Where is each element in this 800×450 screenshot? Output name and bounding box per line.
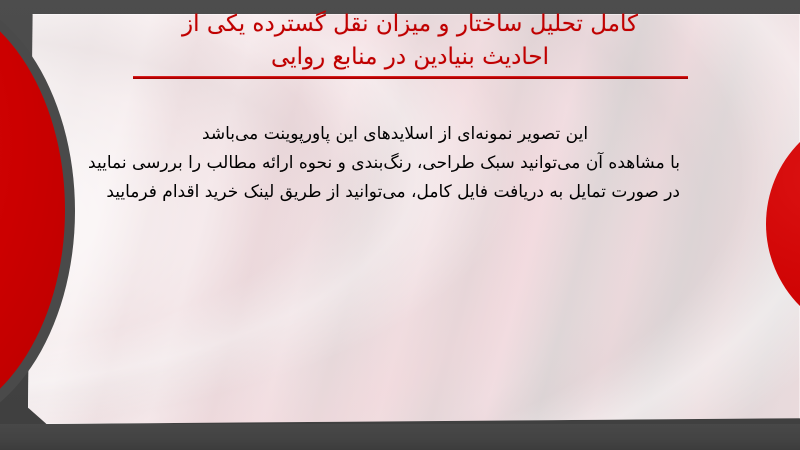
body-line-3: در صورت تمایل به دریافت فایل کامل، می‌تو…	[110, 178, 680, 207]
bottom-dark-strip	[0, 424, 800, 450]
title-underline-rule	[133, 76, 688, 79]
slide-canvas: کامل تحلیل ساختار و میزان نقل گسترده یکی…	[0, 0, 800, 450]
slide-title-text: کامل تحلیل ساختار و میزان نقل گسترده یکی…	[120, 8, 700, 73]
body-line-2: با مشاهده آن می‌توانید سبک طراحی، رنگ‌بن…	[110, 149, 680, 178]
slide-body: این تصویر نمونه‌ای از اسلایدهای این پاور…	[110, 120, 680, 208]
body-line-1: این تصویر نمونه‌ای از اسلایدهای این پاور…	[110, 120, 680, 149]
slide-title: کامل تحلیل ساختار و میزان نقل گسترده یکی…	[120, 8, 700, 73]
